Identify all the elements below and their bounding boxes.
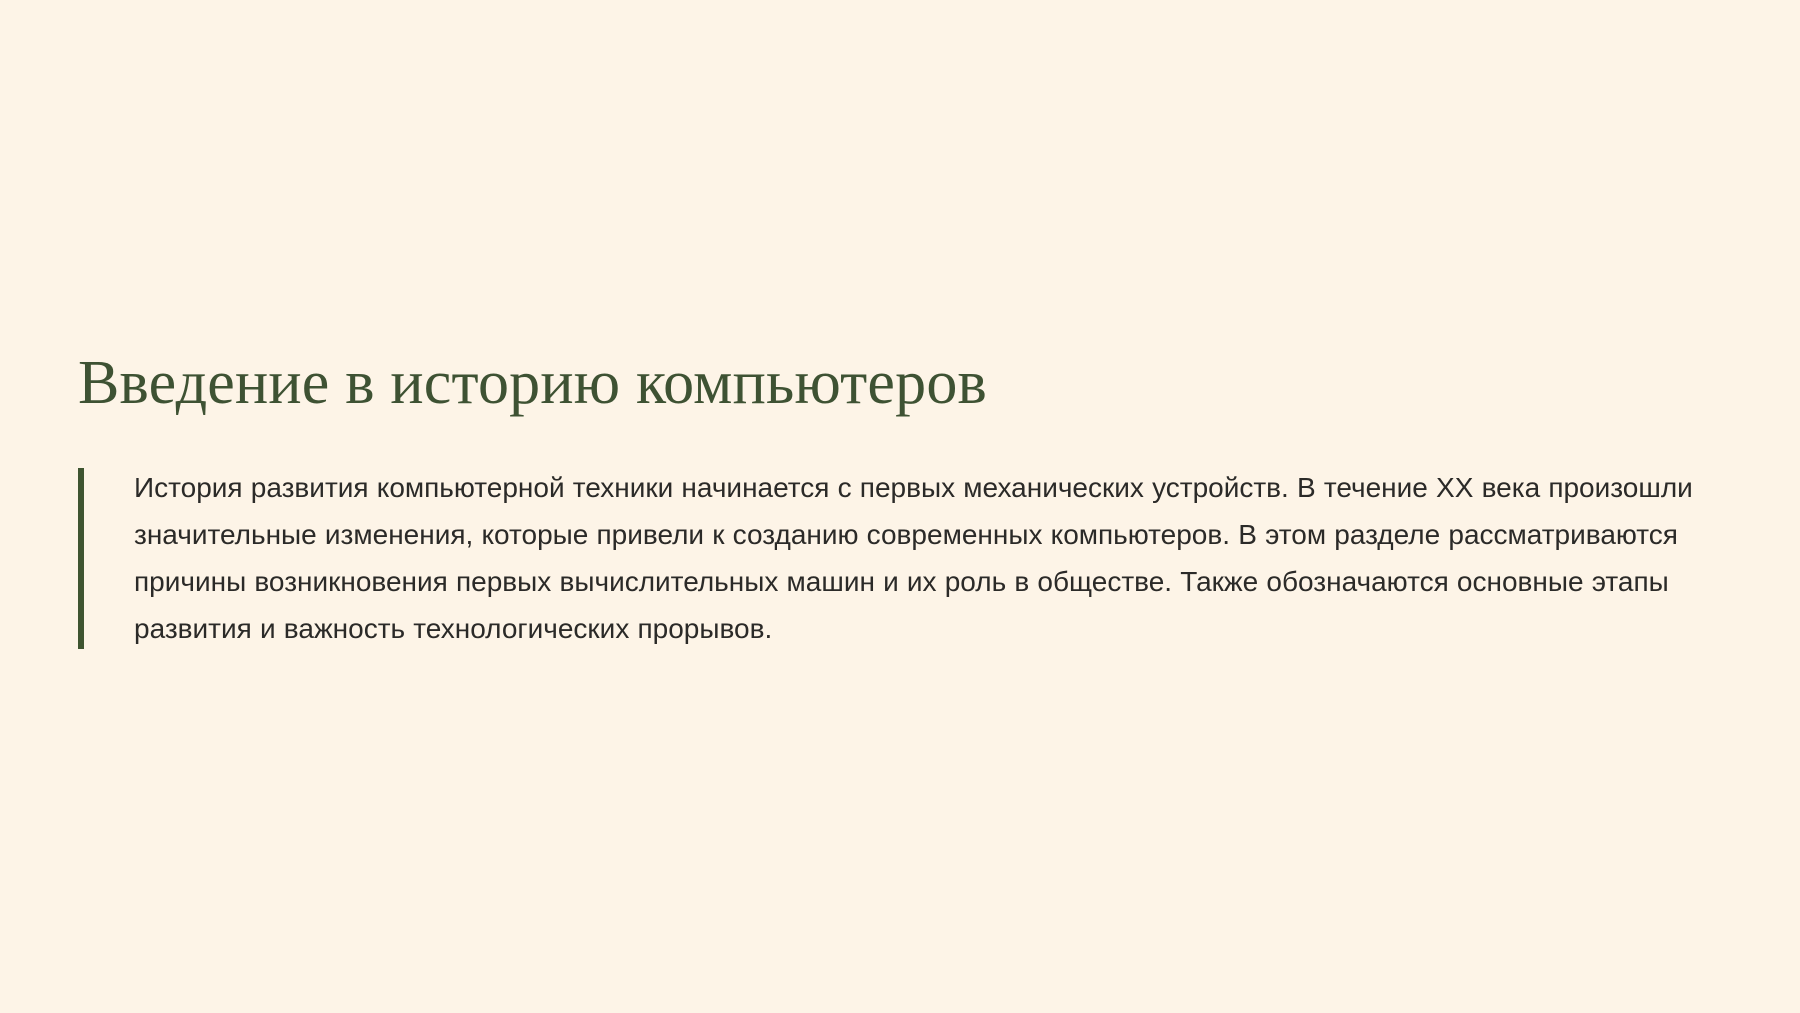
intro-paragraph: История развития компьютерной техники на… — [134, 464, 1730, 652]
accent-bar — [78, 468, 84, 649]
page-root: Введение в историю компьютеров История р… — [0, 0, 1800, 1013]
page-title: Введение в историю компьютеров — [78, 352, 1738, 414]
section-body: История развития компьютерной техники на… — [78, 464, 1738, 652]
intro-section: Введение в историю компьютеров История р… — [78, 352, 1738, 652]
